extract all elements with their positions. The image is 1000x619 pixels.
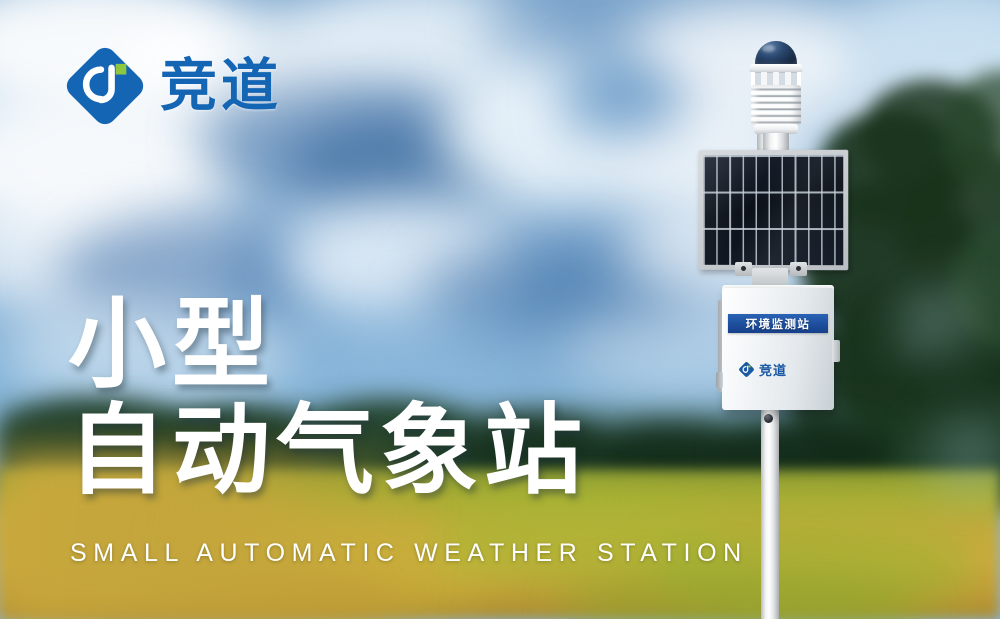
panel-mount-bracket-icon — [752, 268, 788, 285]
control-box-banner-label: 环境监测站 — [746, 316, 811, 332]
headline-subtitle: SMALL AUTOMATIC WEATHER STATION — [70, 539, 748, 568]
sensor-neck-icon — [763, 133, 789, 151]
control-box-right-tab — [832, 340, 840, 362]
headline-line-2: 自动气象站 — [68, 402, 588, 502]
solar-panel-icon — [698, 150, 848, 271]
control-box-brand: 竞道 — [738, 360, 787, 379]
headline-line-1: 小型 — [68, 296, 588, 396]
brand-logo[interactable]: 竞道 — [64, 45, 282, 127]
headline-block: 小型 自动气象站 — [68, 296, 588, 502]
radiation-shield-icon — [751, 85, 801, 125]
control-box: 环境监测站 竞道 — [722, 288, 834, 410]
control-box-banner: 环境监测站 — [728, 314, 828, 333]
sensor-legs-icon — [751, 72, 801, 86]
panel-bracket-right-icon — [790, 262, 807, 276]
control-box-clip — [716, 372, 723, 388]
brand-name: 竞道 — [160, 58, 282, 115]
weather-station-banner: 环境监测站 竞道 — [0, 0, 1000, 619]
jingdao-diamond-logo-icon — [64, 45, 146, 127]
control-box-brand-label: 竞道 — [759, 360, 787, 379]
panel-bracket-left-icon — [735, 262, 752, 276]
solar-panel-cells — [703, 155, 843, 265]
mast-bolt-icon — [764, 414, 773, 423]
jingdao-diamond-logo-icon — [738, 361, 755, 378]
